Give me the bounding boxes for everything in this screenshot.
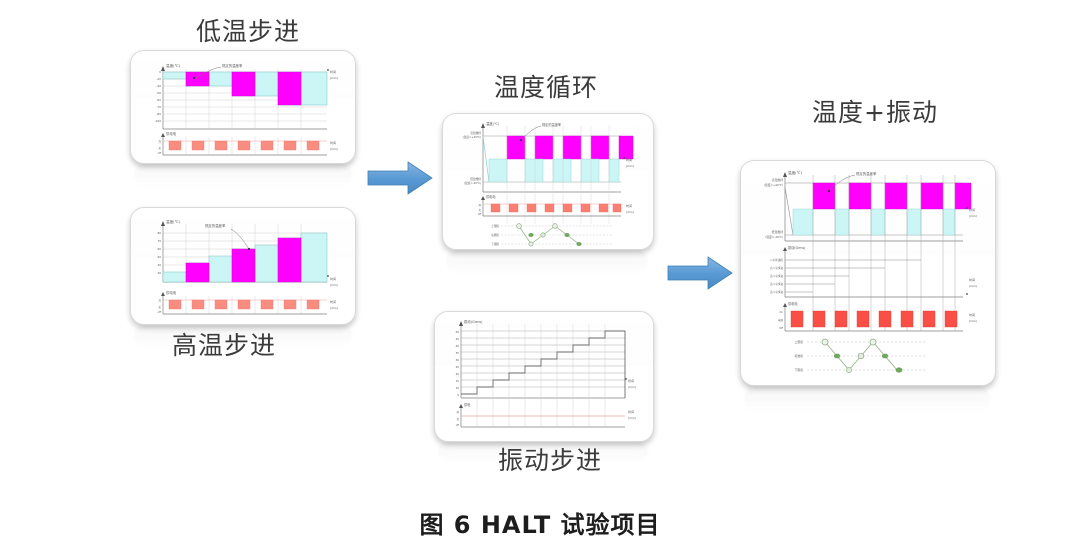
svg-text:关: 关 <box>478 208 481 212</box>
svg-text:六八平步进: 六八平步进 <box>770 266 783 270</box>
svg-text:下限值: 下限值 <box>491 242 499 246</box>
svg-text:开: 开 <box>158 300 161 303</box>
svg-text:下限值: 下限值 <box>795 368 804 372</box>
svg-text:(min): (min) <box>628 416 636 420</box>
svg-text:40: 40 <box>456 344 460 348</box>
svg-text:off: off <box>456 423 460 427</box>
panel-title-vibration-step: 振动步进 <box>498 441 602 477</box>
svg-text:高八平步进: 高八平步进 <box>770 274 783 278</box>
panel-vibration-step: 振动(Grms) 50 45 40 35 30 25 20 15 10 5 <box>434 311 654 442</box>
svg-text:(min): (min) <box>969 319 977 323</box>
panel-temp-vibration: 温度(℃) 高温维持 (温度=+40℃) 低温维持 (温度=-40℃) <box>740 160 996 386</box>
svg-text:温度(℃): 温度(℃) <box>166 63 181 68</box>
panel-reflection-temp-vibration <box>744 385 990 413</box>
svg-text:(min): (min) <box>330 306 338 310</box>
svg-text:-40: -40 <box>156 84 161 88</box>
svg-text:30: 30 <box>456 358 460 362</box>
svg-text:振动(Grms): 振动(Grms) <box>464 319 483 324</box>
panel-title-high-temp-step: 高温步进 <box>172 326 276 362</box>
arrow-right-1 <box>368 160 432 196</box>
svg-text:时间: 时间 <box>628 378 634 383</box>
svg-text:-70: -70 <box>156 105 161 109</box>
svg-text:电源: 电源 <box>778 318 784 322</box>
svg-text:(min): (min) <box>626 210 634 214</box>
svg-text:时间: 时间 <box>330 140 336 145</box>
svg-text:供电电: 供电电 <box>788 301 798 306</box>
svg-text:上限值: 上限值 <box>795 340 804 344</box>
svg-text:振动(Grms): 振动(Grms) <box>788 245 805 250</box>
svg-text:70: 70 <box>157 239 161 243</box>
chart-low-temp-step: 温度(℃) 0 -20 -40 -50 -60 -70 -80 -100 <box>131 51 355 163</box>
svg-text:时间: 时间 <box>969 277 975 282</box>
svg-text:开: 开 <box>456 411 459 414</box>
svg-text:温度(℃): 温度(℃) <box>788 170 803 175</box>
arrow-right-2 <box>668 255 732 291</box>
svg-text:标准值: 标准值 <box>795 354 804 358</box>
svg-text:5: 5 <box>457 393 459 397</box>
svg-text:时间: 时间 <box>969 207 975 212</box>
svg-text:-20: -20 <box>156 77 161 81</box>
svg-text:0: 0 <box>159 70 161 74</box>
svg-text:时间: 时间 <box>969 312 975 317</box>
svg-text:时间: 时间 <box>626 157 632 162</box>
svg-text:时间: 时间 <box>330 299 336 304</box>
svg-text:(min): (min) <box>969 284 977 288</box>
svg-text:(min): (min) <box>330 147 338 151</box>
svg-text:规定的温度率: 规定的温度率 <box>542 122 562 127</box>
svg-text:(温度=-40℃): (温度=-40℃) <box>464 181 481 185</box>
svg-text:50: 50 <box>157 255 161 259</box>
svg-text:25: 25 <box>456 365 460 369</box>
svg-text:供电电: 供电电 <box>486 194 496 199</box>
svg-text:(min): (min) <box>628 385 636 389</box>
svg-text:开: 开 <box>478 204 481 207</box>
svg-text:(温度=+40℃): (温度=+40℃) <box>764 183 783 187</box>
panel-temp-cycle: 温度(℃) 高温维持 (温度=+40℃) 低温维持 (温度=-40℃) <box>442 113 654 250</box>
svg-text:时间: 时间 <box>330 69 336 74</box>
svg-text:20: 20 <box>157 271 161 275</box>
svg-text:关: 关 <box>158 305 161 309</box>
svg-text:-60: -60 <box>156 98 161 102</box>
svg-text:低温维持: 低温维持 <box>772 230 783 234</box>
panel-title-temp-cycle: 温度循环 <box>494 68 598 104</box>
svg-text:-50: -50 <box>156 91 161 95</box>
svg-text:规定的温度率: 规定的温度率 <box>222 63 243 68</box>
chart-temp-cycle: 温度(℃) 高温维持 (温度=+40℃) 低温维持 (温度=-40℃) <box>443 114 653 249</box>
svg-text:时间: 时间 <box>330 276 336 281</box>
svg-text:off: off <box>158 310 162 314</box>
chart-high-temp-step: 温度(℃) 80 70 60 50 40 20 <box>131 208 355 324</box>
panel-title-temp-vibration: 温度+振动 <box>812 93 938 129</box>
chart-vibration-step: 振动(Grms) 50 45 40 35 30 25 20 15 10 5 <box>435 312 653 441</box>
svg-text:关: 关 <box>158 146 161 150</box>
svg-text:On: On <box>779 310 783 314</box>
svg-text:(min): (min) <box>626 164 634 168</box>
svg-text:60: 60 <box>157 247 161 251</box>
svg-text:规定的温度率: 规定的温度率 <box>205 223 226 228</box>
svg-text:40: 40 <box>157 263 161 267</box>
svg-text:八平步进值: 八平步进值 <box>770 258 783 262</box>
figure-canvas: 低温步进 温度(℃) 0 -20 -40 -50 -60 -70 <box>0 0 1080 549</box>
svg-text:供电电: 供电电 <box>166 290 177 295</box>
chart-temp-vibration: 温度(℃) 高温维持 (温度=+40℃) 低温维持 (温度=-40℃) <box>741 161 995 385</box>
svg-text:15: 15 <box>456 379 460 383</box>
panel-high-temp-step: 温度(℃) 80 70 60 50 40 20 <box>130 207 356 325</box>
svg-text:供电: 供电 <box>464 402 471 407</box>
svg-text:-80: -80 <box>156 112 161 116</box>
svg-text:20: 20 <box>456 372 460 376</box>
svg-text:(温度=-40℃): (温度=-40℃) <box>765 235 783 239</box>
panel-title-low-temp-step: 低温步进 <box>196 12 300 48</box>
svg-text:高温维持: 高温维持 <box>772 178 783 182</box>
svg-text:时间: 时间 <box>626 203 632 208</box>
panel-reflection-low-temp <box>134 162 352 188</box>
svg-text:(min): (min) <box>330 76 338 80</box>
figure-caption: 图 6 HALT 试验项目 <box>0 505 1080 540</box>
panel-reflection-temp-cycle <box>446 249 648 275</box>
svg-text:开: 开 <box>158 141 161 144</box>
svg-text:10: 10 <box>456 386 460 390</box>
svg-text:高八平步进: 高八平步进 <box>770 290 783 294</box>
svg-text:关: 关 <box>456 417 459 421</box>
svg-text:高八平步进: 高八平步进 <box>770 282 783 286</box>
svg-text:off: off <box>158 151 162 155</box>
svg-text:温度(℃): 温度(℃) <box>486 121 500 126</box>
svg-text:80: 80 <box>157 231 161 235</box>
panel-low-temp-step: 温度(℃) 0 -20 -40 -50 -60 -70 -80 -100 <box>130 50 356 164</box>
svg-text:Off: Off <box>779 326 783 330</box>
svg-text:(min): (min) <box>969 214 977 218</box>
svg-text:(温度=+40℃): (温度=+40℃) <box>463 135 481 139</box>
svg-text:35: 35 <box>456 351 460 355</box>
svg-text:上限值: 上限值 <box>491 224 499 228</box>
svg-text:温度(℃): 温度(℃) <box>166 219 181 224</box>
svg-text:50: 50 <box>456 330 460 334</box>
svg-text:-100: -100 <box>155 119 162 123</box>
svg-text:45: 45 <box>456 337 460 341</box>
svg-text:off: off <box>478 212 482 216</box>
svg-text:时间: 时间 <box>628 409 634 414</box>
svg-text:供电电: 供电电 <box>166 131 177 136</box>
svg-text:规定的温度率: 规定的温度率 <box>856 171 877 176</box>
svg-text:(min): (min) <box>330 283 338 287</box>
svg-text:功能值: 功能值 <box>491 233 499 237</box>
